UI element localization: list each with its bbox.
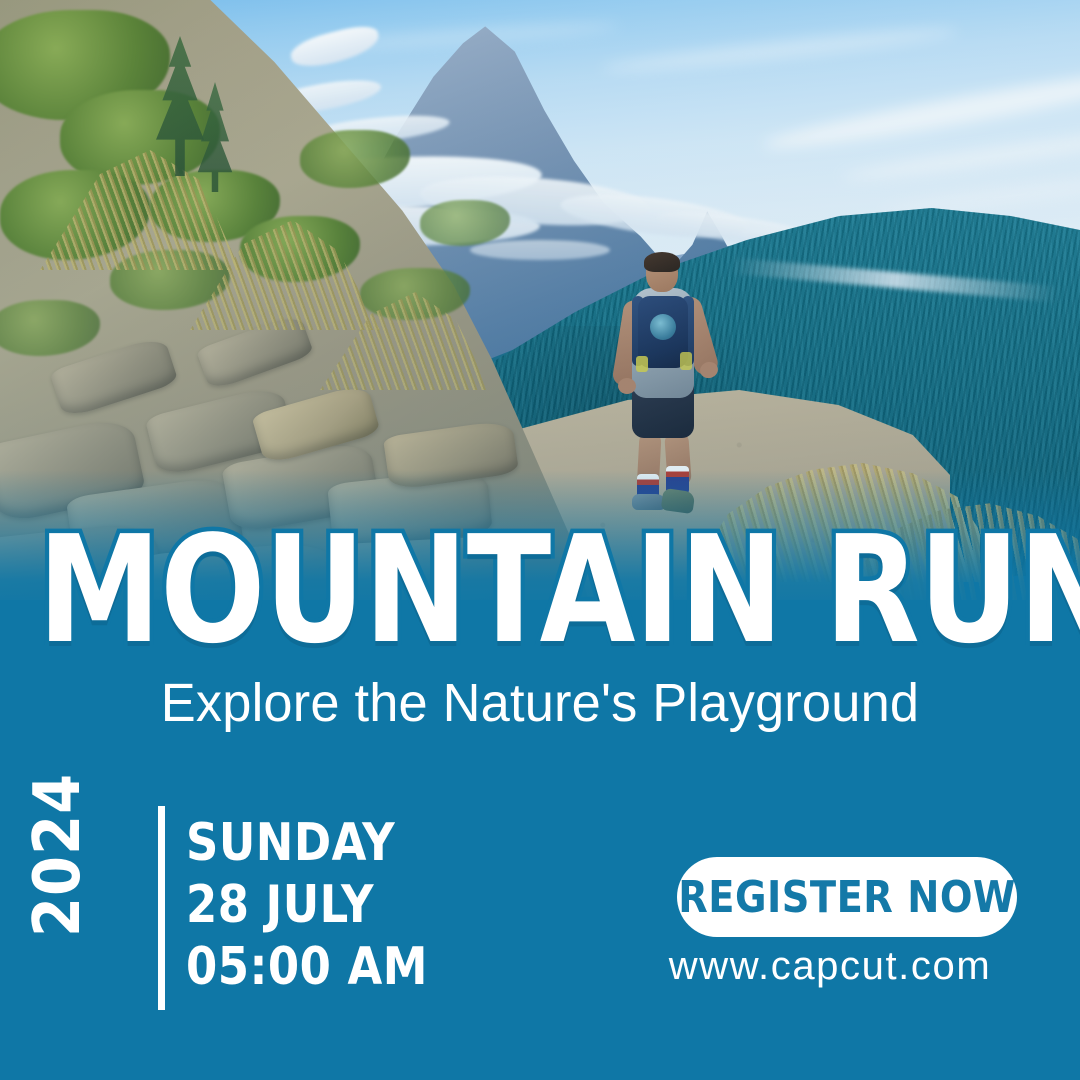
runner-hand-left [618, 378, 636, 394]
event-poster: MOUNTAIN RUNNING Explore the Nature's Pl… [0, 0, 1080, 1080]
register-now-label: REGISTER NOW [678, 872, 1016, 923]
page-subtitle: Explore the Nature's Playground [16, 672, 1064, 734]
website-url[interactable]: www.capcut.com [640, 944, 1020, 989]
runner-pack-logo [650, 314, 676, 340]
event-day: SUNDAY [186, 812, 428, 874]
register-now-button[interactable]: REGISTER NOW [677, 857, 1017, 937]
runner-pack-pocket [636, 356, 648, 372]
event-date: 28 JULY [186, 874, 428, 936]
vertical-divider [158, 806, 165, 1010]
event-datetime: SUNDAY 28 JULY 05:00 AM [186, 812, 438, 998]
event-time: 05:00 AM [186, 936, 428, 998]
runner-hair [644, 252, 680, 272]
page-title: MOUNTAIN RUNNING [38, 524, 1042, 656]
snow-patch [470, 240, 610, 260]
runner-pack-pocket [680, 352, 692, 370]
event-year: 2024 [21, 773, 95, 937]
